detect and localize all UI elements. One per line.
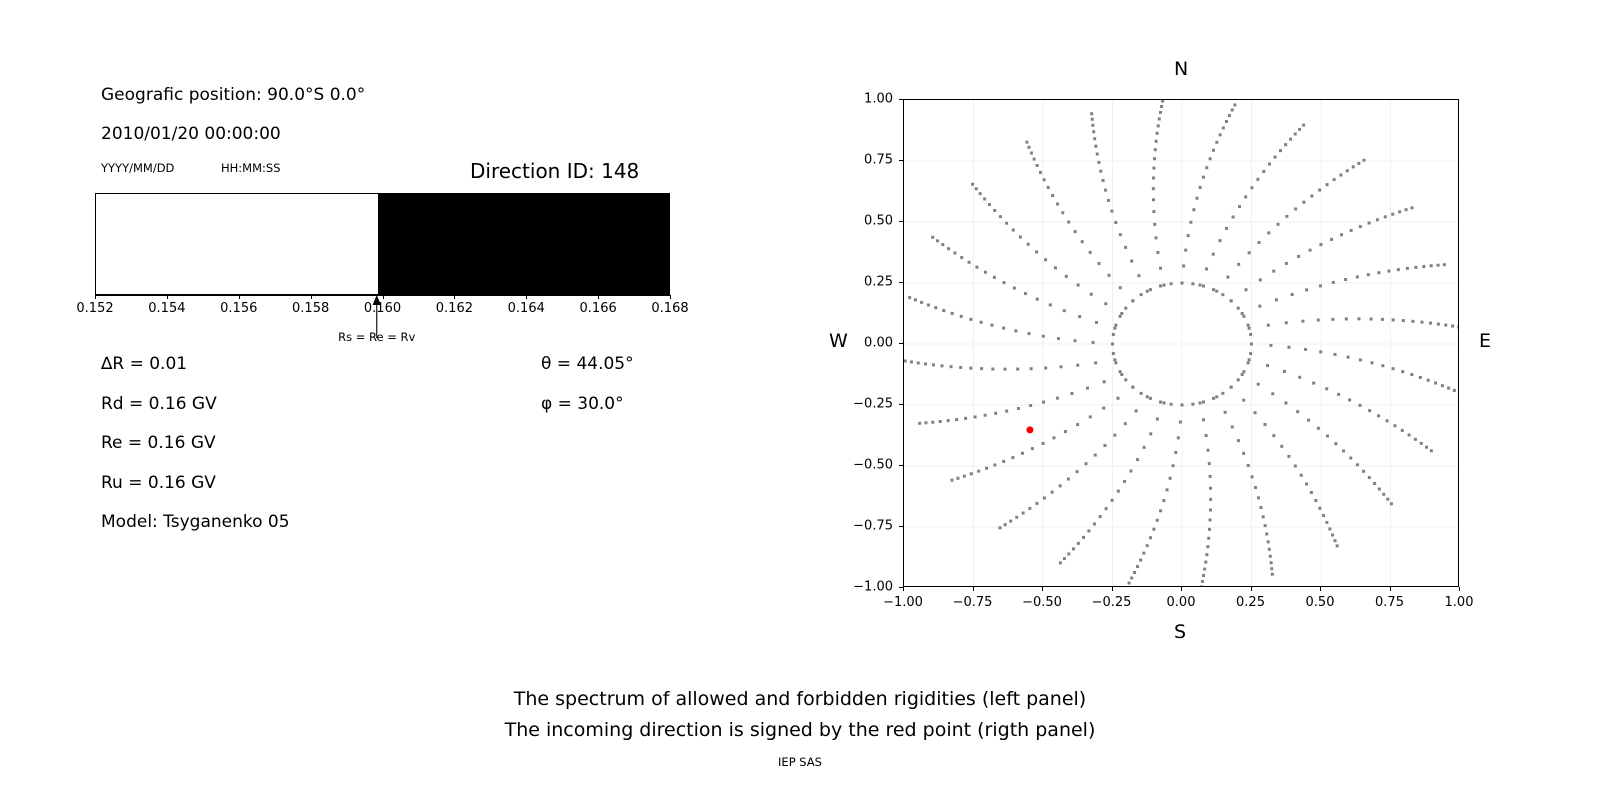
x-tick-label: 1.00 [1445, 595, 1474, 610]
x-tick-label: −0.25 [1092, 595, 1132, 610]
x-tickmark [1112, 587, 1113, 591]
geographic-position-label: Geografic position: 90.0°S 0.0° [101, 85, 365, 105]
parameter-right-1: φ = 30.0° [541, 394, 624, 414]
spectrum-tick [670, 295, 671, 299]
parameter-right-0: θ = 44.05° [541, 354, 634, 374]
time-format-hint: HH:MM:SS [221, 161, 281, 175]
spectrum-tick-label: 0.164 [508, 301, 545, 316]
y-tick-label: 0.00 [843, 336, 893, 351]
spectrum-tick-label: 0.156 [220, 301, 257, 316]
x-tickmark [1181, 587, 1182, 591]
x-tickmark [1459, 587, 1460, 591]
x-tick-label: 0.75 [1375, 595, 1404, 610]
x-tick-label: −1.00 [883, 595, 923, 610]
y-tickmark [899, 404, 903, 405]
y-tickmark [899, 160, 903, 161]
spectrum-tick [239, 295, 240, 299]
spectrum-tick [526, 295, 527, 299]
y-tickmark [899, 282, 903, 283]
compass-east-label: E [1479, 330, 1491, 352]
x-tick-label: 0.00 [1167, 595, 1196, 610]
parameter-left-0: ∆R = 0.01 [101, 354, 187, 374]
compass-west-label: W [829, 330, 848, 352]
rigidity-spectrum-panel: Geografic position: 90.0°S 0.0° 2010/01/… [0, 0, 760, 660]
parameter-left-2: Re = 0.16 GV [101, 433, 216, 453]
spectrum-tick [598, 295, 599, 299]
x-tick-label: −0.75 [953, 595, 993, 610]
y-tick-label: 0.25 [843, 275, 893, 290]
y-tickmark [899, 526, 903, 527]
x-tickmark [1251, 587, 1252, 591]
direction-map-panel: −1.00−0.75−0.50−0.250.000.250.500.751.00… [800, 0, 1600, 660]
y-tick-label: 1.00 [843, 92, 893, 107]
y-tick-label: 0.75 [843, 153, 893, 168]
y-tickmark [899, 221, 903, 222]
y-tick-label: −0.75 [843, 519, 893, 534]
x-tickmark [1320, 587, 1321, 591]
spectrum-bar-wrapper [95, 193, 670, 295]
y-tickmark [899, 343, 903, 344]
spectrum-tick-label: 0.168 [651, 301, 688, 316]
parameter-left-4: Model: Tsyganenko 05 [101, 512, 290, 532]
y-tick-label: −0.50 [843, 458, 893, 473]
x-tickmark [1390, 587, 1391, 591]
spectrum-tick-label: 0.152 [76, 301, 113, 316]
x-tick-label: −0.50 [1022, 595, 1062, 610]
spectrum-tick-label: 0.158 [292, 301, 329, 316]
direction-id-label: Direction ID: 148 [470, 159, 639, 183]
y-tickmark [899, 465, 903, 466]
x-tick-label: 0.50 [1306, 595, 1335, 610]
y-tickmark [899, 99, 903, 100]
parameter-left-1: Rd = 0.16 GV [101, 394, 217, 414]
spectrum-tick [167, 295, 168, 299]
spectrum-tick-label: 0.166 [580, 301, 617, 316]
direction-scatter-plot [903, 99, 1459, 587]
forbidden-region [378, 194, 670, 294]
spectrum-tick [383, 295, 384, 299]
x-tickmark [973, 587, 974, 591]
spectrum-tick-label: 0.154 [148, 301, 185, 316]
caption-line-1: The spectrum of allowed and forbidden ri… [0, 688, 1600, 710]
caption-line-2: The incoming direction is signed by the … [0, 719, 1600, 741]
compass-south-label: S [1174, 621, 1186, 643]
spectrum-x-axis: 0.1520.1540.1560.1580.1600.1620.1640.166… [95, 295, 670, 329]
spectrum-tick [454, 295, 455, 299]
x-tick-label: 0.25 [1236, 595, 1265, 610]
parameter-left-3: Ru = 0.16 GV [101, 473, 216, 493]
y-tick-label: 0.50 [843, 214, 893, 229]
grid-lines [904, 100, 1459, 587]
incoming-direction-marker [1026, 426, 1033, 433]
x-tickmark [1042, 587, 1043, 591]
rs-re-rv-label: Rs = Re = Rv [338, 330, 415, 344]
footer-label: IEP SAS [0, 755, 1600, 769]
scatter-canvas [904, 100, 1459, 587]
date-format-hint: YYYY/MM/DD [101, 161, 174, 175]
y-tickmark [899, 587, 903, 588]
y-tick-label: −1.00 [843, 580, 893, 595]
spectrum-tick [311, 295, 312, 299]
rigidity-spectrum-bar [95, 193, 670, 295]
x-tickmark [903, 587, 904, 591]
y-tick-label: −0.25 [843, 397, 893, 412]
compass-north-label: N [1174, 58, 1188, 80]
spectrum-tick [95, 295, 96, 299]
spectrum-tick-label: 0.162 [436, 301, 473, 316]
spectrum-tick-label: 0.160 [364, 301, 401, 316]
datetime-label: 2010/01/20 00:00:00 [101, 124, 281, 144]
